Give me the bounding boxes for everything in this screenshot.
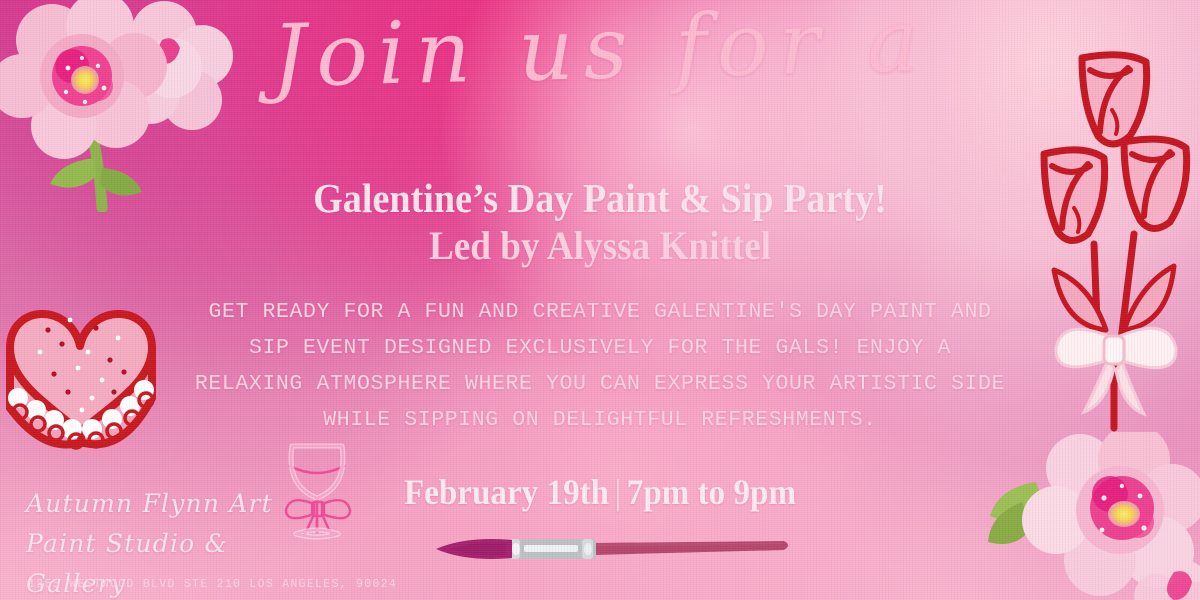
studio-name: Autumn Flynn Art xyxy=(26,484,306,524)
event-description: GET READY FOR A FUN AND CREATIVE GALENTI… xyxy=(190,294,1010,438)
flyer-canvas: Join us for a Galentine’s Day Paint & Si… xyxy=(0,0,1200,600)
heart-cake-icon xyxy=(0,286,168,466)
flower-bottom-right-icon xyxy=(952,432,1200,600)
studio-address: 1355 WESTWOOD BLVD STE 210 LOS ANGELES, … xyxy=(28,578,397,591)
event-title: Galentine’s Day Paint & Sip Party! Led b… xyxy=(42,174,1158,270)
event-time: 7pm to 9pm xyxy=(627,472,796,512)
script-headline: Join us for a xyxy=(0,0,1200,107)
event-title-line1: Galentine’s Day Paint & Sip Party! xyxy=(313,175,887,221)
event-title-line2: Led by Alyssa Knittel xyxy=(42,222,1158,269)
paintbrush-icon xyxy=(424,534,792,564)
event-date: February 19th xyxy=(404,472,609,512)
datetime-separator: | xyxy=(609,472,627,512)
